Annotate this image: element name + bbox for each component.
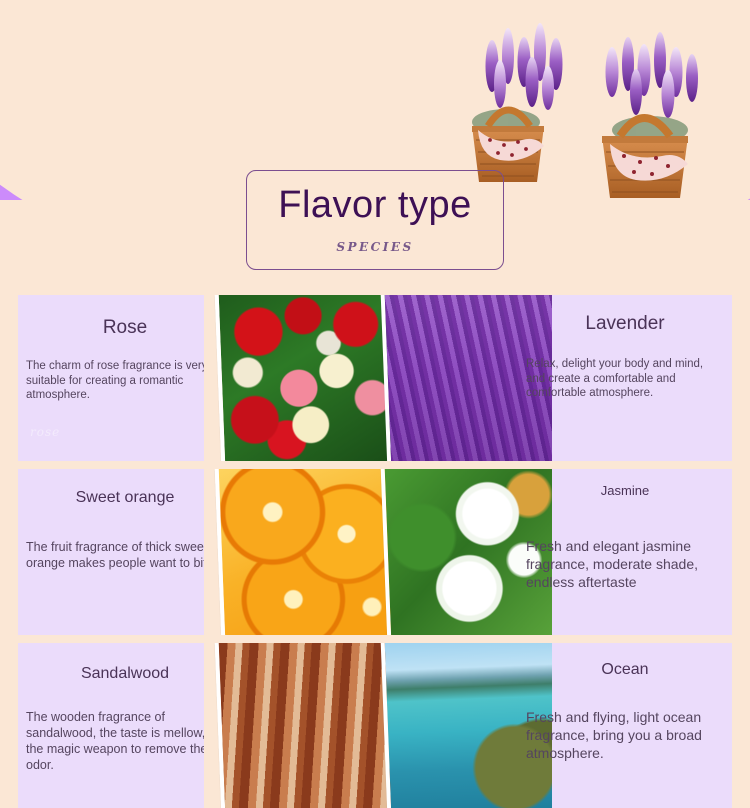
flavor-row-orange-jasmine: Sweet orange The fruit fragrance of thic… <box>18 469 732 635</box>
row-3-images <box>204 643 552 808</box>
sandalwood-logs-photo <box>215 643 404 808</box>
flavor-desc-rose: The charm of rose fragrance is very suit… <box>26 359 224 403</box>
flavor-title-rose: Rose <box>26 317 224 339</box>
orange-slices-photo <box>215 469 404 635</box>
flavor-card-rose[interactable]: Rose The charm of rose fragrance is very… <box>18 295 232 461</box>
page-subtitle: SPECIES <box>336 240 413 254</box>
flavor-card-ocean[interactable]: Ocean Fresh and flying, light ocean frag… <box>518 643 732 808</box>
row-2-images <box>204 469 552 635</box>
flavor-desc-sweet-orange: The fruit fragrance of thick sweet orang… <box>26 539 224 571</box>
flavor-desc-jasmine: Fresh and elegant jasmine fragrance, mod… <box>526 538 724 592</box>
flavor-desc-sandalwood: The wooden fragrance of sandalwood, the … <box>26 709 224 773</box>
header-banner: Flavor type SPECIES <box>0 0 750 292</box>
flavor-title-sweet-orange: Sweet orange <box>26 489 224 507</box>
flavor-title-jasmine: Jasmine <box>526 483 724 498</box>
flavor-desc-ocean: Fresh and flying, light ocean fragrance,… <box>526 709 724 763</box>
flavor-title-sandalwood: Sandalwood <box>26 665 224 683</box>
flavor-card-sweet-orange[interactable]: Sweet orange The fruit fragrance of thic… <box>18 469 232 635</box>
roses-bouquet-photo <box>215 295 404 461</box>
flavor-card-sandalwood[interactable]: Sandalwood The wooden fragrance of sanda… <box>18 643 232 808</box>
content-area: Rose The charm of rose fragrance is very… <box>0 292 750 808</box>
flavor-card-jasmine[interactable]: Jasmine Fresh and elegant jasmine fragra… <box>518 469 732 635</box>
flavor-card-lavender[interactable]: Lavender Relax, delight your body and mi… <box>518 295 732 461</box>
page-title: Flavor type <box>278 186 471 226</box>
flavor-row-sandalwood-ocean: Sandalwood The wooden fragrance of sanda… <box>18 643 732 808</box>
flavor-title-lavender: Lavender <box>526 313 724 335</box>
flavor-row-rose-lavender: Rose The charm of rose fragrance is very… <box>18 295 732 461</box>
rose-watermark: rose <box>30 425 60 439</box>
title-card: Flavor type SPECIES <box>246 170 504 270</box>
flavor-desc-lavender: Relax, delight your body and mind, and c… <box>526 357 724 401</box>
row-1-images <box>204 295 552 461</box>
flavor-title-ocean: Ocean <box>526 661 724 679</box>
page-root: Flavor type SPECIES Rose The charm of ro… <box>0 0 750 808</box>
